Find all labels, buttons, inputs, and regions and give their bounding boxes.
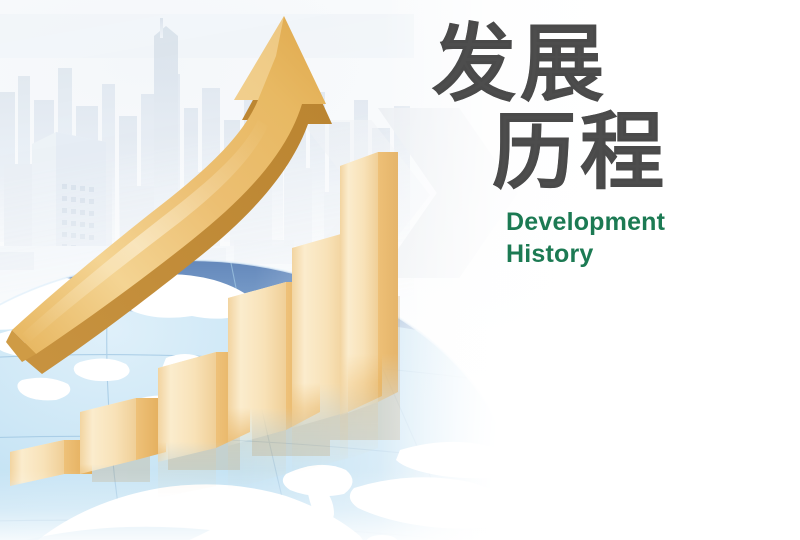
banner-root: 发展 历程 Development History xyxy=(0,0,800,540)
title-cjk-line-2: 历程 xyxy=(492,110,770,194)
title-english-block: Development History xyxy=(506,206,770,270)
title-block: 发展 历程 Development History xyxy=(430,22,770,270)
title-english-line-1: Development xyxy=(506,206,770,238)
title-cjk-line-1: 发展 xyxy=(432,22,770,106)
title-english-line-2: History xyxy=(506,238,770,270)
